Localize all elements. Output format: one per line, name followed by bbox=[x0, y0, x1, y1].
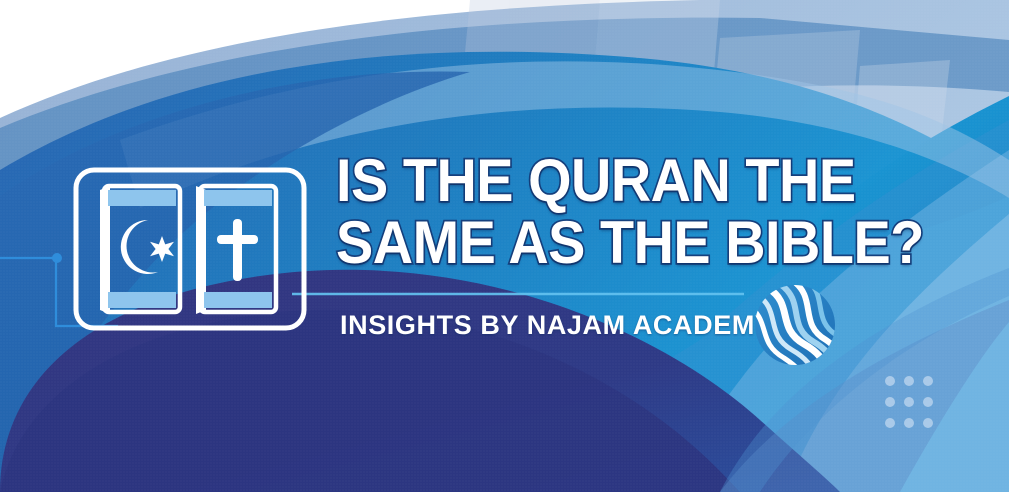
banner-root: IS THE QURAN THE SAME AS THE BIBLE? INSI… bbox=[0, 0, 1009, 492]
headline-line-2: SAME AS THE BIBLE? bbox=[336, 214, 913, 272]
grid-dot bbox=[904, 418, 914, 428]
grid-dot bbox=[923, 418, 933, 428]
page-title: IS THE QURAN THE SAME AS THE BIBLE? bbox=[336, 152, 956, 272]
najam-academy-globe-logo bbox=[752, 282, 838, 368]
grid-dot bbox=[885, 418, 895, 428]
grid-dot bbox=[923, 376, 933, 386]
headline-line-1: IS THE QURAN THE bbox=[336, 152, 913, 210]
two-books-frame-icon bbox=[70, 164, 310, 334]
cross-icon bbox=[217, 219, 258, 281]
circuit-trace-right bbox=[292, 282, 752, 306]
right-book-bible bbox=[196, 186, 276, 314]
dot-grid-decoration bbox=[884, 374, 934, 430]
grid-dot bbox=[904, 397, 914, 407]
grid-dot bbox=[904, 376, 914, 386]
subtitle: INSIGHTS BY NAJAM ACADEMY bbox=[340, 310, 774, 341]
grid-dot bbox=[885, 376, 895, 386]
grid-dot bbox=[885, 397, 895, 407]
crescent-star-icon bbox=[121, 220, 174, 274]
left-book-quran bbox=[100, 186, 180, 314]
grid-dot bbox=[923, 397, 933, 407]
